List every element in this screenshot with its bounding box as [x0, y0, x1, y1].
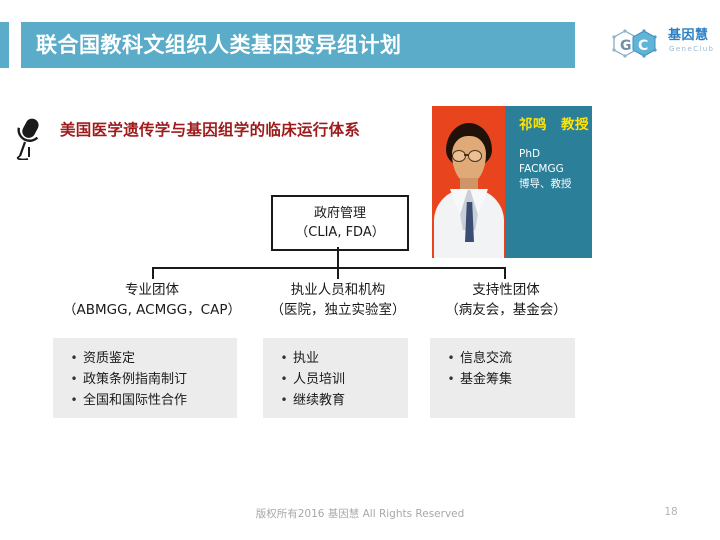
logo-text-en: GeneClub [669, 45, 714, 54]
list-item-label: 基金筹集 [460, 369, 512, 390]
bullet-dot-icon: • [442, 348, 460, 369]
slide: 联合国教科文组织人类基因变异组计划 G C 基因慧 GeneClub 美国医学遗… [0, 0, 720, 540]
list-item: • 人员培训 [275, 369, 400, 390]
title-accent-bar [0, 22, 9, 68]
speaker-info: 祁鸣 教授 PhD FACMGG 博导、教授 [505, 106, 592, 258]
page-number: 18 [656, 506, 686, 518]
speaker-credential-line: PhD [519, 147, 592, 162]
speaker-credential-line: FACMGG [519, 162, 592, 177]
branch-subtitle: （医院，独立实验室） [248, 300, 428, 320]
flowchart-branch-support: 支持性团体 （病友会，基金会） [416, 281, 596, 320]
list-item-label: 信息交流 [460, 348, 512, 369]
bullet-dot-icon: • [442, 369, 460, 390]
branch-subtitle: （病友会，基金会） [416, 300, 596, 320]
speaker-card: 祁鸣 教授 PhD FACMGG 博导、教授 [432, 106, 592, 258]
list-item: • 政策条例指南制订 [65, 369, 229, 390]
flowchart-root-box: 政府管理 （CLIA, FDA） [271, 195, 409, 251]
section-subtitle: 美国医学遗传学与基因组学的临床运行体系 [60, 118, 360, 140]
bullet-dot-icon: • [65, 369, 83, 390]
connector-vertical-top [337, 247, 339, 268]
flowchart-root-title: 政府管理 [314, 205, 366, 223]
svg-text:C: C [638, 38, 648, 54]
branch-title: 支持性团体 [416, 281, 596, 300]
branch-title: 执业人员和机构 [248, 281, 428, 300]
list-item-label: 政策条例指南制订 [83, 369, 187, 390]
flowchart-branch-practitioners: 执业人员和机构 （医院，独立实验室） [248, 281, 428, 320]
connector-stub-center [337, 267, 339, 279]
bullet-box-practitioners: • 执业 • 人员培训 • 继续教育 [263, 338, 408, 418]
bullet-dot-icon: • [65, 390, 83, 411]
speaker-credential-line: 博导、教授 [519, 177, 592, 192]
footer-copyright: 版权所有2016 基因慧 All Rights Reserved [0, 506, 720, 521]
brand-logo: G C 基因慧 GeneClub [612, 27, 710, 63]
speaker-name: 祁鸣 教授 [519, 116, 592, 134]
list-item-label: 全国和国际性合作 [83, 390, 187, 411]
hexagon-gc-logo-icon: G C [612, 28, 664, 62]
speaker-credentials: PhD FACMGG 博导、教授 [519, 147, 592, 192]
list-item: • 继续教育 [275, 390, 400, 411]
bullet-dot-icon: • [275, 390, 293, 411]
list-item-label: 执业 [293, 348, 319, 369]
bullet-dot-icon: • [275, 369, 293, 390]
logo-text-cn: 基因慧 [668, 29, 709, 43]
bullet-dot-icon: • [275, 348, 293, 369]
speaker-portrait [432, 106, 505, 258]
bullet-box-support: • 信息交流 • 基金筹集 [430, 338, 575, 418]
list-item-label: 继续教育 [293, 390, 345, 411]
list-item: • 资质鉴定 [65, 348, 229, 369]
bullet-box-professional: • 资质鉴定 • 政策条例指南制订 • 全国和国际性合作 [53, 338, 237, 418]
connector-horizontal [152, 267, 506, 269]
list-item-label: 人员培训 [293, 369, 345, 390]
list-item: • 全国和国际性合作 [65, 390, 229, 411]
list-item: • 信息交流 [442, 348, 567, 369]
svg-text:G: G [620, 38, 632, 54]
list-item-label: 资质鉴定 [83, 348, 135, 369]
connector-stub-left [152, 267, 154, 279]
connector-stub-right [504, 267, 506, 279]
microphone-icon [12, 116, 46, 160]
page-title: 联合国教科文组织人类基因变异组计划 [36, 22, 576, 68]
list-item: • 执业 [275, 348, 400, 369]
bullet-dot-icon: • [65, 348, 83, 369]
flowchart-root-subtitle: （CLIA, FDA） [295, 223, 384, 242]
list-item: • 基金筹集 [442, 369, 567, 390]
